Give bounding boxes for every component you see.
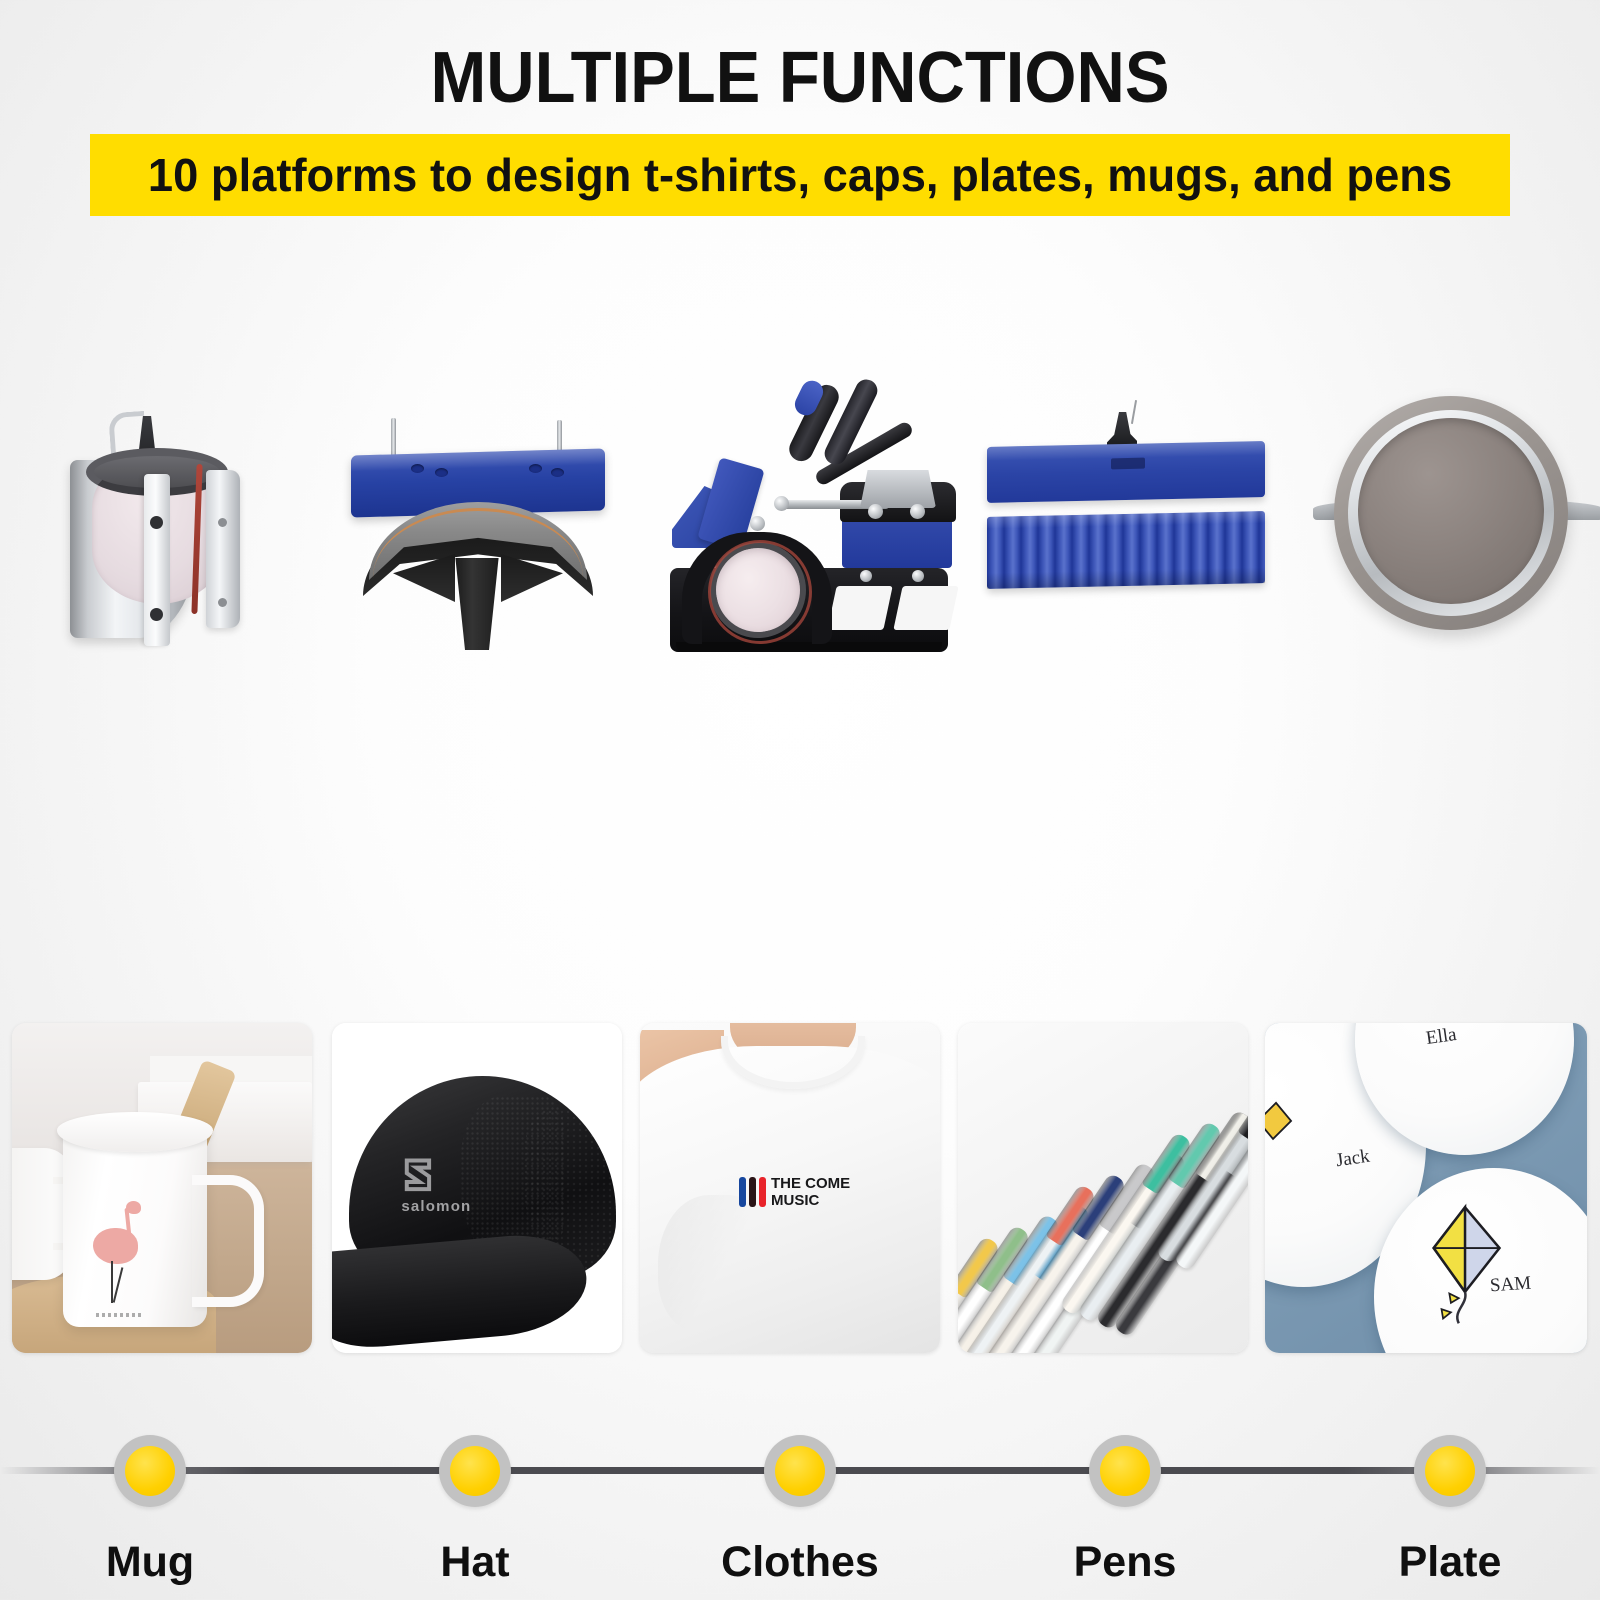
small-kite-icon — [1265, 1096, 1297, 1149]
timeline-node-plate — [1414, 1435, 1486, 1507]
product-pen-press — [965, 360, 1285, 690]
plates-photo: Jack Ella SAM — [1265, 1023, 1587, 1353]
pen-cap-icon — [1237, 1079, 1248, 1142]
timeline-label-pens: Pens — [960, 1538, 1290, 1587]
timeline-label-mug: Mug — [0, 1538, 315, 1587]
gallery-tile-pens — [958, 1023, 1248, 1353]
logo-text: THE COME MUSIC — [771, 1175, 850, 1210]
gallery-tile-plates: Jack Ella SAM — [1265, 1023, 1587, 1353]
gallery-tile-mug — [12, 1023, 312, 1353]
mug-photo — [12, 1023, 312, 1353]
plate-name-ella: Ella — [1425, 1024, 1458, 1050]
timeline-label-clothes: Clothes — [635, 1538, 965, 1587]
logo-text-line2: MUSIC — [771, 1192, 850, 1209]
timeline-label-plate: Plate — [1285, 1538, 1600, 1587]
product-clothes-press — [640, 360, 960, 690]
tshirt-photo: THE COME MUSIC — [640, 1023, 940, 1353]
subtitle-text: 10 platforms to design t-shirts, caps, p… — [148, 148, 1452, 202]
timeline-dot-icon — [450, 1446, 500, 1496]
pen-press-icon — [981, 400, 1271, 650]
timeline-node-hat — [439, 1435, 511, 1507]
timeline: Mug Hat Clothes Pens Plate — [0, 700, 1600, 940]
subtitle-banner: 10 platforms to design t-shirts, caps, p… — [90, 134, 1510, 216]
timeline-dot-icon — [775, 1446, 825, 1496]
logo-bars-icon — [739, 1177, 766, 1207]
tshirt-chest-logo: THE COME MUSIC — [739, 1175, 850, 1210]
product-hat-press — [315, 360, 635, 690]
timeline-node-mug — [114, 1435, 186, 1507]
product-plate-press — [1290, 360, 1600, 690]
timeline-dot-icon — [1425, 1446, 1475, 1496]
cap-photo: salomon — [332, 1023, 622, 1353]
mug-wrap-heater-icon — [58, 412, 243, 657]
timeline-dot-icon — [125, 1446, 175, 1496]
header: MULTIPLE FUNCTIONS 10 platforms to desig… — [0, 0, 1600, 114]
timeline-dot-icon — [1100, 1446, 1150, 1496]
gallery-tile-tshirt: THE COME MUSIC — [640, 1023, 940, 1353]
kite-drawing-icon — [1423, 1201, 1520, 1326]
page-title: MULTIPLE FUNCTIONS — [56, 0, 1544, 114]
heat-press-machine-icon — [664, 374, 954, 674]
cap-brand-label: salomon — [387, 1198, 486, 1215]
timeline-label-hat: Hat — [310, 1538, 640, 1587]
gallery-row: salomon THE COME MUSIC — [0, 1023, 1600, 1353]
pens-photo — [958, 1023, 1248, 1353]
salomon-mark-icon — [402, 1155, 434, 1195]
hat-press-icon — [343, 418, 613, 648]
timeline-node-clothes — [764, 1435, 836, 1507]
plate-press-icon — [1334, 396, 1568, 630]
logo-text-line1: THE COME — [771, 1175, 850, 1192]
gallery-tile-cap: salomon — [332, 1023, 622, 1353]
product-illustration-row — [0, 360, 1600, 690]
timeline-node-pens — [1089, 1435, 1161, 1507]
product-mug-press — [0, 360, 310, 690]
